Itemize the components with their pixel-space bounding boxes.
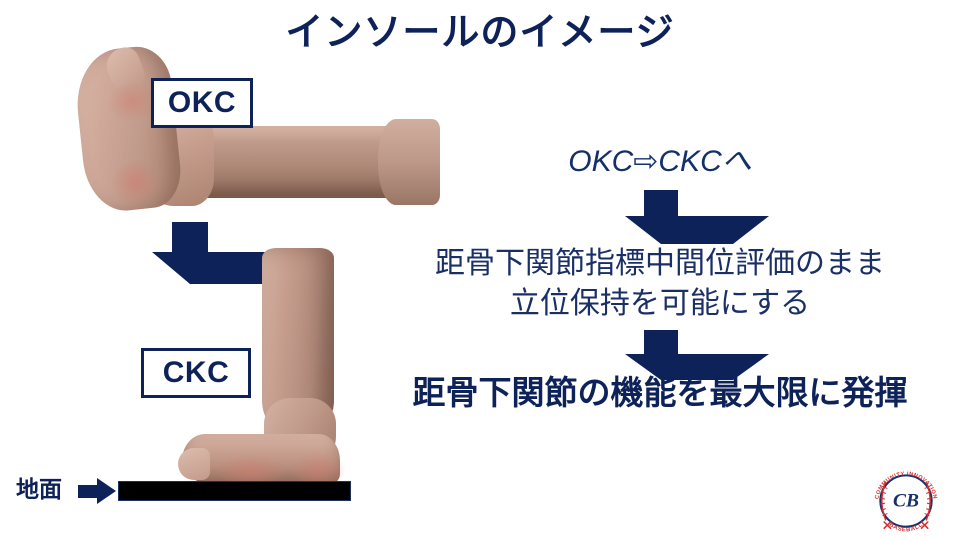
arrow-stem	[644, 190, 678, 216]
arrow-head	[625, 216, 769, 244]
ckc-label-text: CKC	[163, 356, 230, 390]
okc-label-box: OKC	[151, 78, 253, 128]
okc-foot-shape	[72, 43, 184, 214]
svg-text:CB: CB	[893, 490, 919, 511]
okc-to-ckc-down-arrow-icon	[152, 222, 228, 284]
arrow-head	[97, 478, 116, 504]
middle-statement-line-1: 距骨下関節指標中間位評価のまま	[380, 244, 940, 284]
arrow-stem	[172, 222, 208, 252]
middle-statement: 距骨下関節指標中間位評価のまま 立位保持を可能にする	[380, 244, 940, 324]
okc-heel-blush	[109, 157, 162, 208]
okc-to-ckc-headline: OKC⇨CKCへ	[430, 136, 890, 180]
okc-label-text: OKC	[168, 86, 236, 120]
flow-down-arrow-1-icon	[625, 190, 697, 244]
ground-bar	[118, 481, 351, 501]
middle-statement-line-2: 立位保持を可能にする	[380, 284, 940, 324]
ground-right-arrow-icon	[78, 478, 116, 504]
conclusion-statement: 距骨下関節の機能を最大限に発揮	[370, 372, 950, 414]
slide-canvas: インソールのイメージ OKC CKC 地面 OKC⇨CKCへ	[0, 0, 960, 540]
arrow-stem	[78, 485, 98, 498]
okc-leg-photo	[62, 42, 412, 214]
arrow-stem	[644, 330, 678, 354]
baseball-logo-icon: COMMUNITY INNOVATION BASEBALL CB	[866, 466, 946, 536]
ground-label: 地面	[16, 476, 62, 502]
ckc-forefoot-blush	[214, 454, 288, 484]
ckc-heel-blush	[290, 452, 346, 484]
okc-shin-shape	[180, 126, 418, 198]
ckc-label-box: CKC	[141, 348, 251, 398]
ckc-toe-shape	[178, 448, 210, 480]
